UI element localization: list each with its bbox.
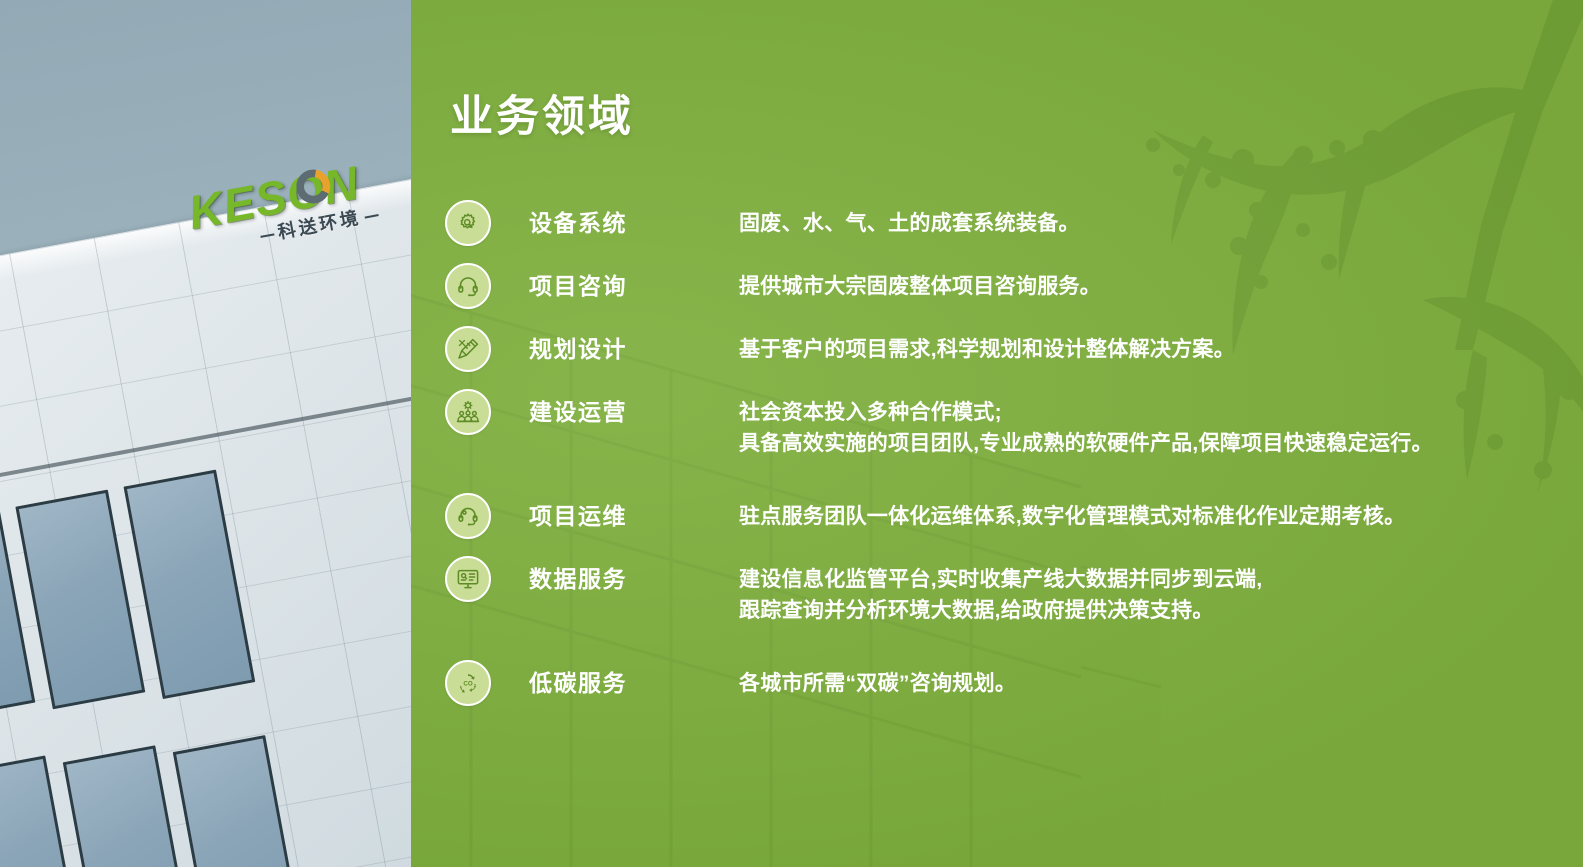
list-item[interactable]: 项目运维 驻点服务团队一体化运维体系,数字化管理模式对标准化作业定期考核。 — [445, 493, 1565, 539]
list-item-label: 数据服务 — [529, 556, 739, 602]
co2-recycle-icon: CO 2 — [445, 660, 491, 706]
icon-cell — [445, 389, 491, 435]
desc-line: 建设信息化监管平台,实时收集产线大数据并同步到云端, — [739, 564, 1565, 595]
icon-cell — [445, 200, 491, 246]
business-area-list: 设备系统 固废、水、气、土的成套系统装备。 — [445, 200, 1565, 706]
list-item[interactable]: 项目咨询 提供城市大宗固废整体项目咨询服务。 — [445, 263, 1565, 309]
desc-line: 社会资本投入多种合作模式; — [739, 397, 1565, 428]
list-item-desc: 驻点服务团队一体化运维体系,数字化管理模式对标准化作业定期考核。 — [739, 493, 1565, 532]
list-item-label: 项目运维 — [529, 493, 739, 539]
list-item-label: 规划设计 — [529, 326, 739, 372]
list-item-desc: 建设信息化监管平台,实时收集产线大数据并同步到云端, 跟踪查询并分析环境大数据,… — [739, 556, 1565, 626]
headset-icon — [445, 263, 491, 309]
building-photo: KESON 科送环境 — [0, 0, 411, 867]
list-item-desc: 提供城市大宗固废整体项目咨询服务。 — [739, 263, 1565, 302]
desc-line: 跟踪查询并分析环境大数据,给政府提供决策支持。 — [739, 595, 1565, 626]
icon-cell: CO 2 — [445, 660, 491, 706]
dash-left-icon — [260, 234, 274, 239]
list-item[interactable]: 数据服务 建设信息化监管平台,实时收集产线大数据并同步到云端, 跟踪查询并分析环… — [445, 556, 1565, 626]
dash-right-icon — [365, 214, 379, 219]
slide-root: KESON 科送环境 — [0, 0, 1583, 867]
list-item[interactable]: 设备系统 固废、水、气、土的成套系统装备。 — [445, 200, 1565, 246]
panel-content: 业务领域 设备系统 固 — [411, 0, 1583, 867]
list-item-desc: 固废、水、气、土的成套系统装备。 — [739, 200, 1565, 239]
gear-search-icon — [445, 200, 491, 246]
desc-line: 基于客户的项目需求,科学规划和设计整体解决方案。 — [739, 334, 1565, 365]
content-panel: 业务领域 设备系统 固 — [411, 0, 1583, 867]
headset-support-icon — [445, 493, 491, 539]
list-item-desc: 社会资本投入多种合作模式; 具备高效实施的项目团队,专业成熟的软硬件产品,保障项… — [739, 389, 1565, 459]
svg-text:CO: CO — [463, 681, 472, 688]
list-item[interactable]: 建设运营 社会资本投入多种合作模式; 具备高效实施的项目团队,专业成熟的软硬件产… — [445, 389, 1565, 459]
desc-line: 固废、水、气、土的成套系统装备。 — [739, 208, 1565, 239]
icon-cell — [445, 556, 491, 602]
desc-line: 具备高效实施的项目团队,专业成熟的软硬件产品,保障项目快速稳定运行。 — [739, 428, 1565, 459]
team-gear-icon — [445, 389, 491, 435]
icon-cell — [445, 326, 491, 372]
list-item-label: 设备系统 — [529, 200, 739, 246]
page-title: 业务领域 — [450, 82, 634, 144]
svg-text:2: 2 — [474, 683, 477, 688]
list-item-label: 低碳服务 — [529, 660, 739, 706]
list-item[interactable]: CO 2 低碳服务 各城市所需“双碳”咨询规划。 — [445, 660, 1565, 706]
list-item-label: 项目咨询 — [529, 263, 739, 309]
list-item-desc: 基于客户的项目需求,科学规划和设计整体解决方案。 — [739, 326, 1565, 365]
pencil-ruler-icon — [445, 326, 491, 372]
icon-cell — [445, 263, 491, 309]
desc-line: 各城市所需“双碳”咨询规划。 — [739, 668, 1565, 699]
desc-line: 提供城市大宗固废整体项目咨询服务。 — [739, 271, 1565, 302]
list-item[interactable]: 规划设计 基于客户的项目需求,科学规划和设计整体解决方案。 — [445, 326, 1565, 372]
monitor-data-icon — [445, 556, 491, 602]
list-item-label: 建设运营 — [529, 389, 739, 435]
list-item-desc: 各城市所需“双碳”咨询规划。 — [739, 660, 1565, 699]
desc-line: 驻点服务团队一体化运维体系,数字化管理模式对标准化作业定期考核。 — [739, 501, 1565, 532]
icon-cell — [445, 493, 491, 539]
